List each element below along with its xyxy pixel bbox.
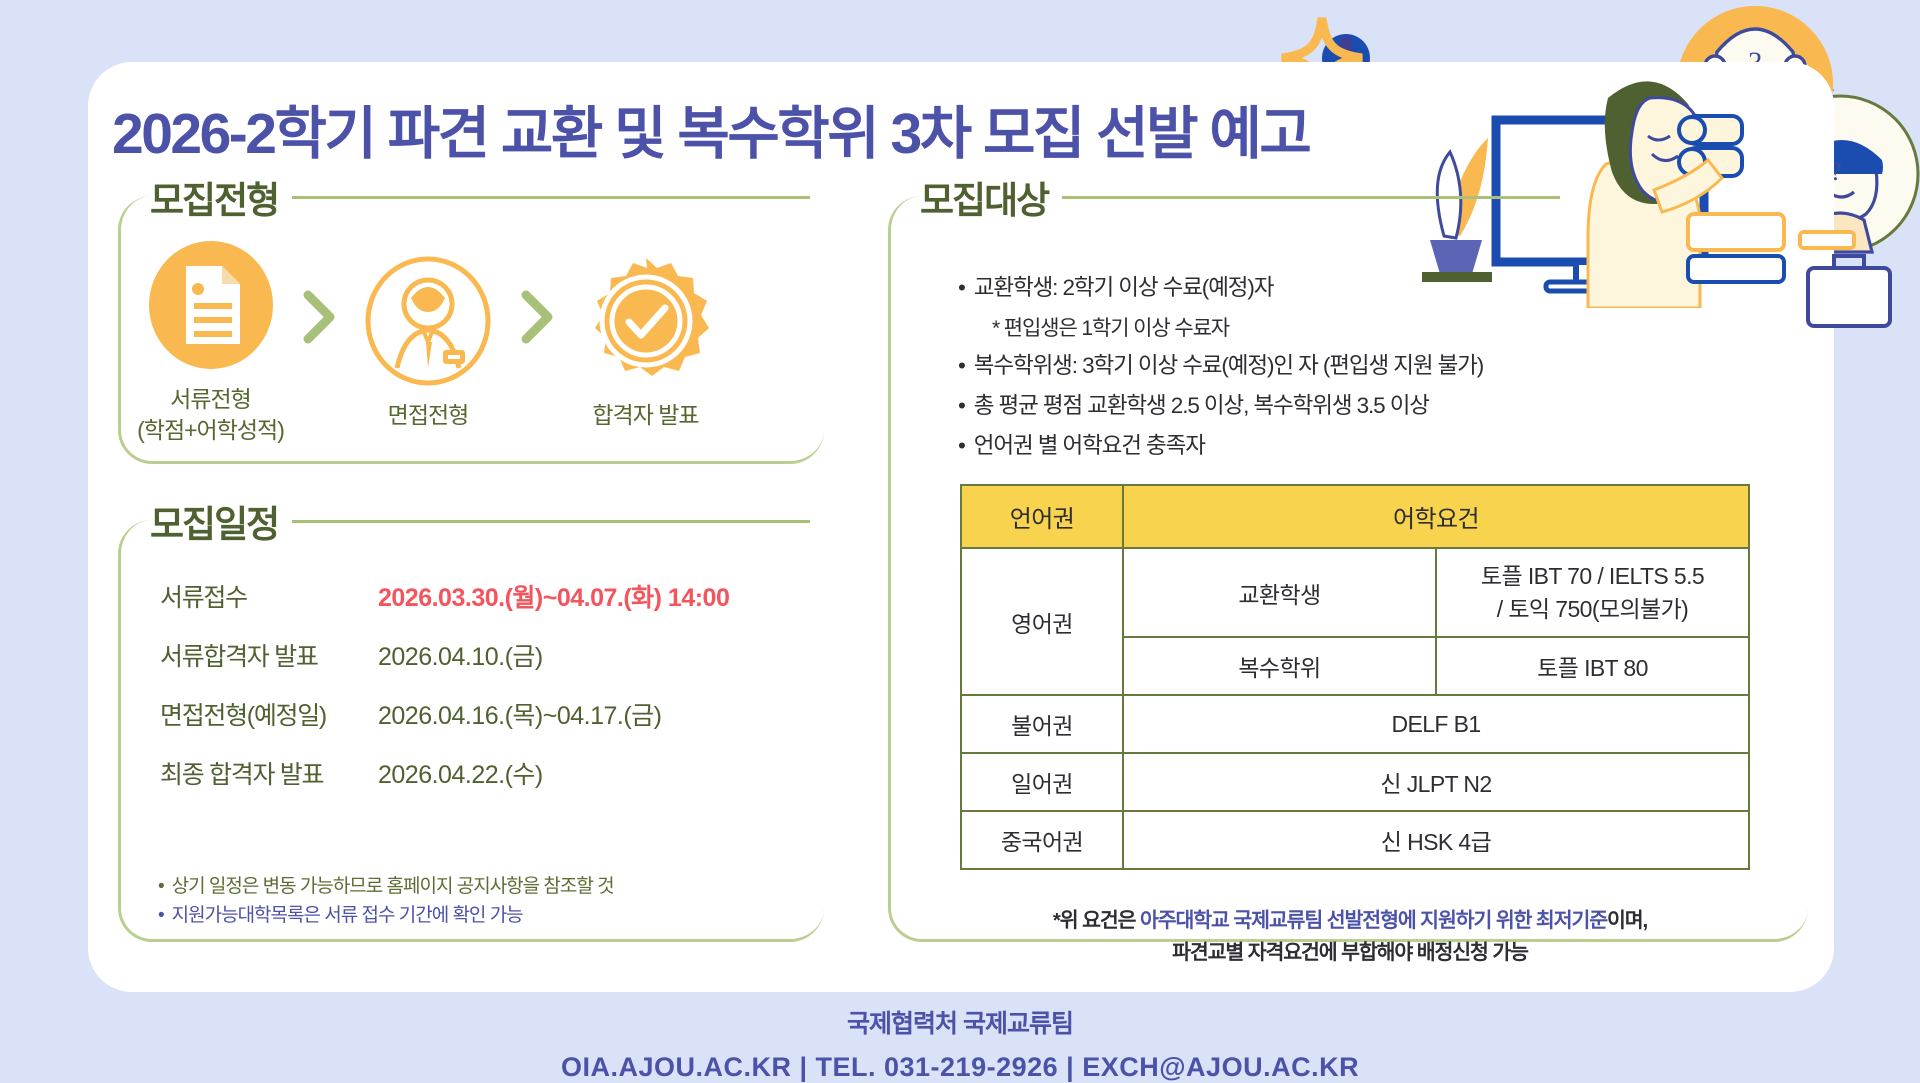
table-cell-requirement: 토플 IBT 70 / IELTS 5.5 / 토익 750(모의불가) xyxy=(1436,548,1749,637)
process-step: 면접전형 xyxy=(346,256,511,431)
footnote-suffix: 이며, xyxy=(1607,909,1647,932)
poster-root: ? ? xyxy=(0,0,1920,1080)
table-row: 불어권 DELF B1 xyxy=(961,695,1749,753)
table-footnote-line2: 파견교별 자격요건에 부합해야 배정신청 가능 xyxy=(905,937,1795,969)
process-step-label: 합격자 발표 xyxy=(563,400,728,431)
target-bullet-text: 복수학위생: 3학기 이상 수료(예정)인 자 (편입생 지원 불가) xyxy=(974,353,1483,378)
schedule-row: 최종 합격자 발표 2026.04.22.(수) xyxy=(160,755,780,791)
target-section-header: 모집대상 xyxy=(920,170,1560,224)
schedule-heading: 모집일정 xyxy=(150,494,292,548)
process-step-label: 면접전형 xyxy=(346,400,511,431)
interview-person-icon xyxy=(363,256,493,386)
schedule-note: •상기 일정은 변동 가능하므로 홈페이지 공지사항을 참조할 것 xyxy=(158,872,798,901)
process-heading: 모집전형 xyxy=(150,170,292,224)
schedule-section-header: 모집일정 xyxy=(150,494,810,548)
bullet-icon: • xyxy=(958,353,965,378)
table-footnote-line1: *위 요건은 아주대학교 국제교류팀 선발전형에 지원하기 위한 최저기준이며, xyxy=(905,905,1795,937)
table-cell-language: 불어권 xyxy=(961,695,1123,753)
schedule-term: 최종 합격자 발표 xyxy=(160,755,378,791)
target-bullet: •복수학위생: 3학기 이상 수료(예정)인 자 (편입생 지원 불가) xyxy=(958,350,1788,382)
table-cell-requirement: 신 JLPT N2 xyxy=(1123,753,1749,811)
process-steps: 서류전형 (학점+어학성적) 면접전형 xyxy=(128,240,728,446)
target-bullet-text: 언어권 별 어학요건 충족자 xyxy=(974,433,1205,458)
approved-badge-icon xyxy=(581,256,711,386)
target-bullet-text: 교환학생: 2학기 이상 수료(예정)자 xyxy=(974,275,1274,300)
document-icon xyxy=(146,240,276,370)
language-requirement-table: 언어권 어학요건 영어권 교환학생 토플 IBT 70 / IELTS 5.5 … xyxy=(960,484,1750,870)
chevron-right-icon xyxy=(302,289,336,345)
table-row: 영어권 교환학생 토플 IBT 70 / IELTS 5.5 / 토익 750(… xyxy=(961,548,1749,637)
footer-team: 국제협력처 국제교류팀 xyxy=(0,1004,1920,1040)
schedule-notes: •상기 일정은 변동 가능하므로 홈페이지 공지사항을 참조할 것 •지원가능대… xyxy=(158,872,798,931)
schedule-note-text: 상기 일정은 변동 가능하므로 홈페이지 공지사항을 참조할 것 xyxy=(172,876,614,897)
bullet-icon: • xyxy=(958,393,965,418)
footnote-prefix: *위 요건은 xyxy=(1053,909,1140,932)
table-cell-language: 일어권 xyxy=(961,753,1123,811)
schedule-list: 서류접수 2026.03.30.(월)~04.07.(화) 14:00 서류합격… xyxy=(160,578,780,814)
schedule-row: 서류합격자 발표 2026.04.10.(금) xyxy=(160,637,780,673)
schedule-date: 2026.04.10.(금) xyxy=(378,637,543,673)
target-bullet: •총 평균 평점 교환학생 2.5 이상, 복수학위생 3.5 이상 xyxy=(958,390,1788,422)
table-footnote: *위 요건은 아주대학교 국제교류팀 선발전형에 지원하기 위한 최저기준이며,… xyxy=(905,905,1795,969)
target-bullet-text: 총 평균 평점 교환학생 2.5 이상, 복수학위생 3.5 이상 xyxy=(974,393,1429,418)
header-rule xyxy=(292,196,810,199)
bullet-icon: • xyxy=(158,876,164,897)
target-bullets: •교환학생: 2학기 이상 수료(예정)자 * 편입생은 1학기 이상 수료자 … xyxy=(958,272,1788,470)
table-cell-kind: 복수학위 xyxy=(1123,637,1436,695)
chevron-right-icon xyxy=(520,289,554,345)
table-row: 중국어권 신 HSK 4급 xyxy=(961,811,1749,869)
table-header-requirement: 어학요건 xyxy=(1123,485,1749,548)
schedule-row: 면접전형(예정일) 2026.04.16.(목)~04.17.(금) xyxy=(160,696,780,732)
header-rule xyxy=(292,520,810,523)
target-bullet-sub: * 편입생은 1학기 이상 수료자 xyxy=(992,312,1788,342)
table-cell-language: 중국어권 xyxy=(961,811,1123,869)
process-section-header: 모집전형 xyxy=(150,170,810,224)
table-header-language: 언어권 xyxy=(961,485,1123,548)
footnote-accent: 아주대학교 국제교류팀 선발전형에 지원하기 위한 최저기준 xyxy=(1140,909,1607,932)
table-cell-requirement: DELF B1 xyxy=(1123,695,1749,753)
table-header-row: 언어권 어학요건 xyxy=(961,485,1749,548)
poster-footer: 국제협력처 국제교류팀 OIA.AJOU.AC.KR | TEL. 031-21… xyxy=(0,1004,1920,1083)
schedule-date: 2026.04.22.(수) xyxy=(378,755,543,791)
target-heading: 모집대상 xyxy=(920,170,1062,224)
schedule-date: 2026.03.30.(월)~04.07.(화) 14:00 xyxy=(378,578,729,614)
schedule-row: 서류접수 2026.03.30.(월)~04.07.(화) 14:00 xyxy=(160,578,780,614)
target-bullet: •언어권 별 어학요건 충족자 xyxy=(958,430,1788,462)
page-title: 2026-2학기 파견 교환 및 복수학위 3차 모집 선발 예고 xyxy=(112,88,1309,170)
table-cell-requirement: 신 HSK 4급 xyxy=(1123,811,1749,869)
table-cell-language: 영어권 xyxy=(961,548,1123,695)
target-bullet: •교환학생: 2학기 이상 수료(예정)자 xyxy=(958,272,1788,304)
bullet-icon: • xyxy=(958,433,965,458)
schedule-note: •지원가능대학목록은 서류 접수 기간에 확인 가능 xyxy=(158,901,798,930)
schedule-term: 서류접수 xyxy=(160,578,378,614)
table-cell-requirement: 토플 IBT 80 xyxy=(1436,637,1749,695)
footer-contact: OIA.AJOU.AC.KR | TEL. 031-219-2926 | EXC… xyxy=(0,1052,1920,1083)
process-step: 합격자 발표 xyxy=(563,256,728,431)
bullet-icon: • xyxy=(958,275,965,300)
table-row: 일어권 신 JLPT N2 xyxy=(961,753,1749,811)
schedule-term: 면접전형(예정일) xyxy=(160,696,378,732)
table-cell-kind: 교환학생 xyxy=(1123,548,1436,637)
schedule-term: 서류합격자 발표 xyxy=(160,637,378,673)
process-step: 서류전형 (학점+어학성적) xyxy=(128,240,293,446)
process-step-label: 서류전형 (학점+어학성적) xyxy=(128,384,293,446)
bullet-icon: • xyxy=(158,905,164,926)
schedule-note-text: 지원가능대학목록은 서류 접수 기간에 확인 가능 xyxy=(172,905,523,926)
schedule-date: 2026.04.16.(목)~04.17.(금) xyxy=(378,696,661,732)
header-rule xyxy=(1062,196,1560,199)
